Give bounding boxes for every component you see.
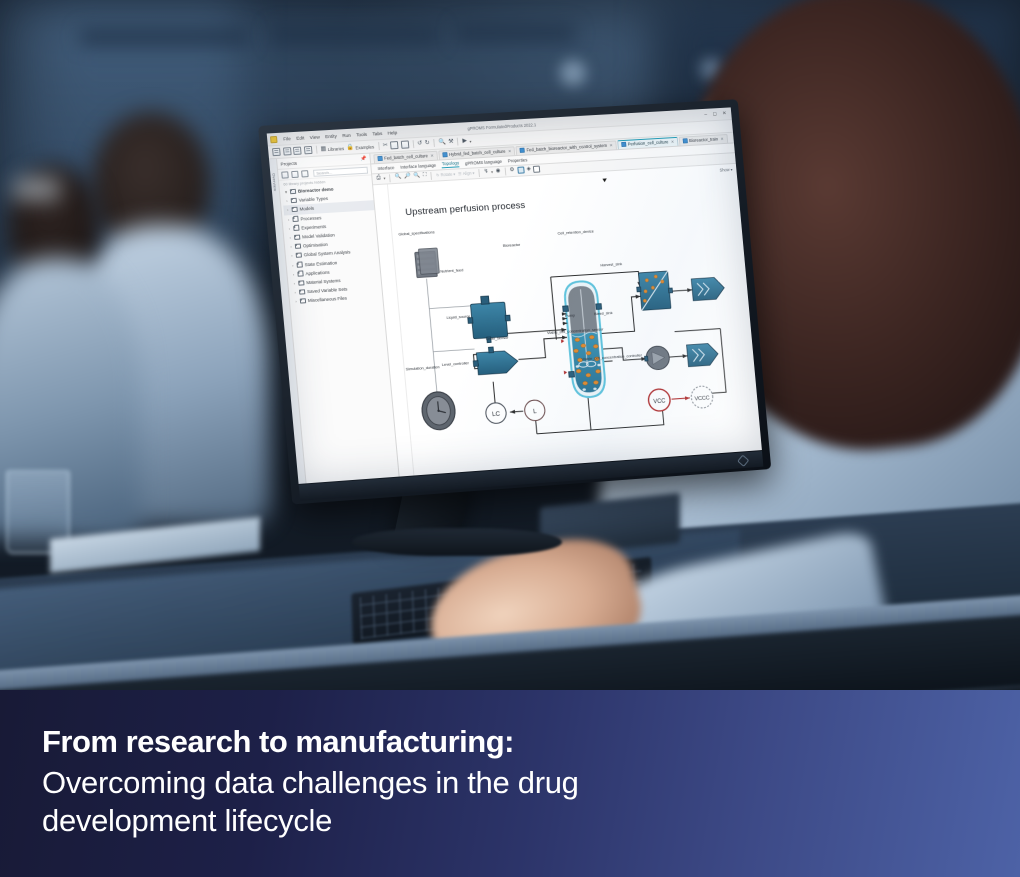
tree-item-label: State Estimation <box>304 260 337 267</box>
subtab-topology[interactable]: Topology <box>442 160 460 168</box>
tab-label: Fed_batch_cell_culture <box>384 154 428 161</box>
folder-icon <box>290 189 296 194</box>
flowsheet-diagram[interactable]: LC L <box>373 163 762 476</box>
toolbar-separator <box>431 171 433 179</box>
folder-icon <box>297 271 303 276</box>
expand-chevron-icon[interactable]: › <box>287 226 291 231</box>
maximize-icon[interactable]: ◻ <box>713 111 718 117</box>
window-controls[interactable]: – ◻ ✕ <box>704 110 731 117</box>
close-icon[interactable]: ✕ <box>671 139 675 144</box>
save-icon[interactable] <box>293 147 302 155</box>
zoom-fit-icon[interactable]: ⛶ <box>423 173 427 179</box>
node-global-specifications <box>414 247 439 277</box>
expand-chevron-icon[interactable]: › <box>292 281 296 286</box>
banner-subhead: Overcoming data challenges in the drug d… <box>42 764 980 841</box>
tree-item-label: Variable Types <box>299 196 329 203</box>
close-icon[interactable]: ✕ <box>722 111 727 117</box>
node-vcc-controller: VCCC <box>690 385 713 408</box>
close-icon[interactable]: ✕ <box>609 143 613 148</box>
align-button: ☰ Align ▾ <box>458 170 475 176</box>
link-icon[interactable] <box>291 170 299 177</box>
tree-item-label: Model Validation <box>302 233 335 240</box>
expand-chevron-icon[interactable]: › <box>285 199 289 204</box>
node-liquid-source <box>472 345 519 375</box>
zoom-in-icon[interactable]: 🔍 <box>395 174 402 180</box>
safety-glasses <box>14 178 60 200</box>
expand-chevron-icon[interactable]: › <box>289 244 293 249</box>
subtab-properties[interactable]: Properties <box>508 157 528 163</box>
menu-view[interactable]: View <box>309 134 319 140</box>
tab-label: Perfusion_cell_culture <box>628 140 669 147</box>
toolbar-separator <box>315 146 317 154</box>
libraries-label: Libraries <box>328 146 345 152</box>
libraries-button[interactable]: ▦ Libraries <box>320 145 344 152</box>
pin-icon[interactable]: 📌 <box>360 156 367 162</box>
toolbar-separator <box>478 169 480 177</box>
model-icon <box>377 156 382 161</box>
gproms-application: File Edit View Entity Run Tools Tabs Hel… <box>267 107 762 484</box>
expand-chevron-icon[interactable]: › <box>293 290 297 295</box>
title-banner: From research to manufacturing: Overcomi… <box>0 690 1020 877</box>
svg-text:LC: LC <box>492 410 501 417</box>
route-dropdown-caret[interactable]: ▾ <box>491 169 493 174</box>
expand-chevron-icon[interactable]: › <box>286 217 290 222</box>
tab-label: Hybrid_fed_batch_cell_culture <box>449 149 506 157</box>
subtab-gproms-language[interactable]: gPROMS language <box>465 159 502 166</box>
globe-icon[interactable]: ◈ <box>526 167 531 173</box>
folder-icon <box>296 253 302 258</box>
computer-monitor: File Edit View Entity Run Tools Tabs Hel… <box>258 99 771 504</box>
app-body: Overview Projects 📌 <box>269 133 762 484</box>
folder-icon <box>293 225 299 230</box>
menu-edit[interactable]: Edit <box>296 135 304 140</box>
node-bioreactor <box>556 280 610 398</box>
menu-run[interactable]: Run <box>342 132 351 137</box>
node-bleed-sink <box>687 342 719 366</box>
select-dropdown-caret[interactable]: ▾ <box>383 176 385 181</box>
rail-item-overview[interactable]: Overview <box>271 173 278 191</box>
cut-icon[interactable]: ✂ <box>383 143 388 149</box>
folder-icon <box>295 244 301 249</box>
page-root: File Edit View Entity Run Tools Tabs Hel… <box>0 0 1020 877</box>
label-pump: Pump <box>565 312 575 318</box>
menu-file[interactable]: File <box>283 136 291 141</box>
tree-root-label: Bioreactor demo <box>298 187 334 194</box>
toolbar-separator <box>457 138 459 146</box>
close-icon[interactable]: ✕ <box>508 149 512 154</box>
close-icon[interactable]: ✕ <box>720 136 724 141</box>
topology-canvas[interactable]: Show ▾ Upstream perfusion process <box>373 163 762 476</box>
chevron-down-icon: ▾ <box>472 170 474 175</box>
collapse-all-icon[interactable] <box>301 170 309 177</box>
tree-item-label: Optimisation <box>303 242 328 249</box>
banner-inner: From research to manufacturing: Overcomi… <box>0 690 1020 841</box>
node-level-controller: LC <box>485 402 507 424</box>
node-harvest-sink <box>691 276 725 300</box>
rotate-button: ↻ Rotate ▾ <box>436 172 456 178</box>
toolbar-separator <box>378 142 380 150</box>
libraries-icon: ▦ <box>320 146 326 152</box>
align-icon: ☰ <box>458 171 462 176</box>
chevron-down-icon: ▾ <box>453 172 455 177</box>
zoom-region-icon[interactable]: 🔍 <box>413 173 420 179</box>
menu-help[interactable]: Help <box>387 130 397 135</box>
bokeh-light <box>560 60 586 86</box>
node-cell-retention-device <box>635 270 674 310</box>
expand-chevron-icon[interactable]: › <box>294 299 298 304</box>
redo-icon[interactable]: ↻ <box>425 140 430 146</box>
expand-chevron-icon[interactable]: › <box>285 208 289 213</box>
connect-icon[interactable]: ◉ <box>496 169 501 175</box>
tree-item-label: Models <box>299 206 314 212</box>
folder-icon <box>292 216 298 221</box>
menu-tabs[interactable]: Tabs <box>372 131 382 137</box>
expand-chevron-icon[interactable]: › <box>288 235 292 240</box>
examples-button[interactable]: 🔒 Examples <box>346 143 374 151</box>
folder-icon <box>294 235 300 240</box>
select-tool-icon[interactable]: ⎙ <box>376 176 381 182</box>
folder-icon <box>300 299 306 304</box>
undo-icon[interactable]: ↺ <box>417 141 422 147</box>
node-simulation-duration <box>420 390 456 430</box>
paste-icon[interactable] <box>400 140 409 148</box>
folder-icon <box>291 207 297 212</box>
expand-chevron-icon[interactable]: › <box>290 263 294 268</box>
build-icon[interactable]: ⚒ <box>448 139 454 145</box>
project-tree[interactable]: ▾ Bioreactor demo › Variable Types <box>280 182 383 306</box>
examples-icon: 🔒 <box>346 145 354 151</box>
banner-subhead-line1: Overcoming data challenges in the drug <box>42 764 980 802</box>
monitor-stand-base <box>352 528 562 556</box>
node-vcc-sensor: VCC <box>648 388 671 411</box>
model-icon <box>621 142 626 147</box>
expand-chevron-icon[interactable]: › <box>290 253 294 258</box>
search-icon[interactable]: 🔍 <box>438 139 446 145</box>
search-input[interactable]: Search... <box>313 166 368 176</box>
folder-icon <box>298 280 304 285</box>
toolbar-separator <box>433 139 435 147</box>
rotate-icon: ↻ <box>436 172 440 177</box>
toolbar-separator <box>389 174 391 182</box>
svg-text:VCC: VCC <box>653 398 666 405</box>
save-all-icon[interactable] <box>303 146 312 154</box>
new-file-icon[interactable] <box>272 148 281 156</box>
examples-label: Examples <box>355 144 374 150</box>
expand-chevron-icon[interactable]: › <box>291 272 295 277</box>
node-pump <box>644 345 671 370</box>
expand-chevron-icon[interactable]: ▾ <box>284 189 288 194</box>
banner-headline: From research to manufacturing: <box>42 724 980 760</box>
new-project-icon[interactable] <box>281 171 289 178</box>
banner-subhead-line2: development lifecycle <box>42 802 980 840</box>
node-level-sensor: L <box>524 399 546 421</box>
subtab-interface[interactable]: Interface <box>377 165 394 171</box>
model-icon <box>683 139 688 144</box>
zoom-out-icon[interactable]: 🔎 <box>404 174 411 180</box>
wall-strip <box>270 26 440 44</box>
run-dropdown-caret[interactable]: ▾ <box>469 138 471 143</box>
rotate-label: Rotate <box>440 172 452 178</box>
app-logo-icon <box>270 135 278 142</box>
svg-text:VCCC: VCCC <box>694 395 710 402</box>
model-icon <box>442 152 447 157</box>
model-icon <box>520 148 525 153</box>
tree-item-label: Applications <box>305 270 330 276</box>
hero-photograph: File Edit View Entity Run Tools Tabs Hel… <box>0 0 1020 690</box>
magnifier-icon[interactable] <box>517 167 524 174</box>
projects-panel-title: Projects <box>280 160 297 166</box>
wall-strip <box>455 24 575 42</box>
run-icon[interactable]: ▶ <box>462 138 467 144</box>
route-icon[interactable]: ↯ <box>484 169 489 175</box>
tree-item-label: Material Systems <box>306 278 341 285</box>
copy-icon[interactable] <box>390 141 399 149</box>
editor-area: Fed_batch_cell_culture ✕ Hybrid_fed_batc… <box>370 133 762 477</box>
folder-icon <box>299 289 305 294</box>
menu-bar[interactable]: File Edit View Entity Run Tools Tabs Hel… <box>283 130 397 141</box>
toolbar-separator <box>504 167 506 175</box>
tree-item-label: Processes <box>300 215 321 221</box>
open-folder-icon[interactable] <box>283 147 292 155</box>
toolbar-separator <box>412 140 414 148</box>
minimize-icon[interactable]: – <box>704 112 707 118</box>
folder-icon <box>296 262 302 267</box>
tab-label: Bioreactor_train <box>689 137 718 144</box>
settings-icon[interactable]: ⚙ <box>509 168 514 174</box>
subtab-interface-language[interactable]: Interface language <box>400 162 436 169</box>
wall-strip <box>80 28 250 46</box>
menu-tools[interactable]: Tools <box>356 131 367 137</box>
folder-icon <box>291 198 297 203</box>
menu-entity[interactable]: Entity <box>325 133 337 139</box>
grid-icon[interactable] <box>533 166 540 173</box>
monitor-screen: File Edit View Entity Run Tools Tabs Hel… <box>267 107 762 484</box>
close-icon[interactable]: ✕ <box>430 153 434 158</box>
align-label: Align <box>462 171 471 176</box>
tree-item-label: Experiments <box>301 224 326 230</box>
tree-item-label: Miscellaneous Files <box>308 296 347 303</box>
